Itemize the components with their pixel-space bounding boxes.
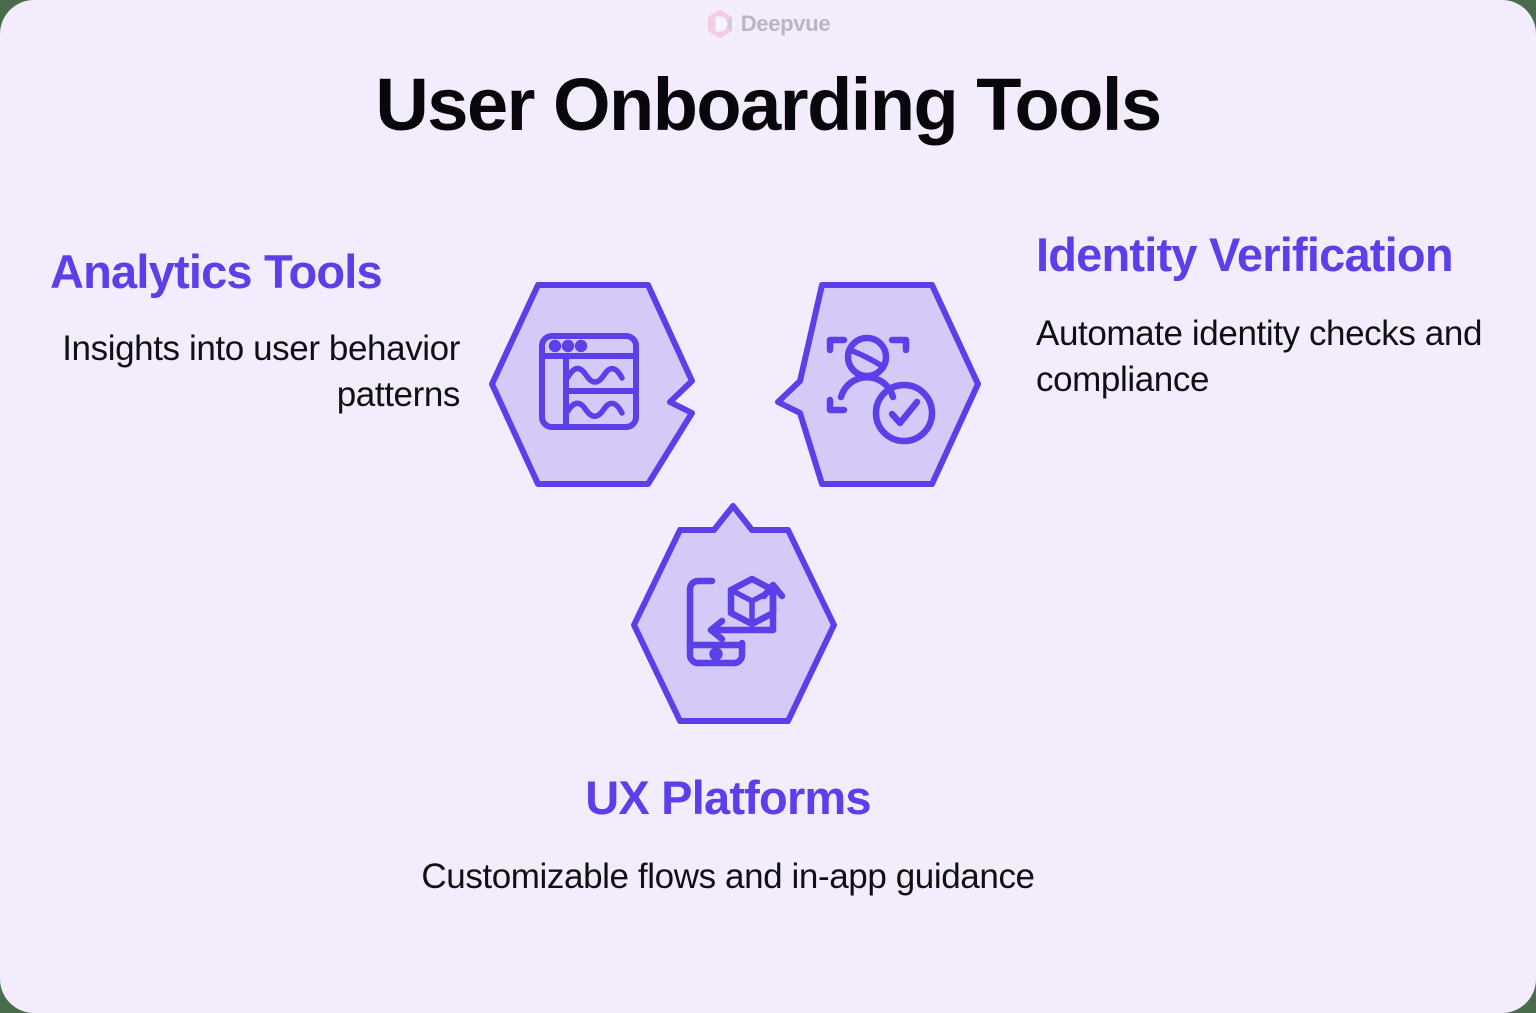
hexagon-badge-analytics: [478, 277, 708, 492]
deepvue-hexagon-logo-icon: [706, 9, 734, 39]
section-description-analytics: Insights into user behavior patterns: [20, 326, 460, 418]
section-ux: UX Platforms Customizable flows and in-a…: [418, 770, 1038, 900]
section-description-identity: Automate identity checks and compliance: [1036, 311, 1522, 403]
section-identity: Identity Verification Automate identity …: [1036, 227, 1522, 403]
section-analytics: Analytics Tools Insights into user behav…: [20, 244, 460, 418]
section-heading-analytics: Analytics Tools: [50, 244, 460, 300]
hexagon-badge-identity: [762, 277, 992, 492]
brand-logo: Deepvue: [0, 6, 1536, 42]
hexagon-badge-ux: [618, 518, 848, 733]
section-description-ux: Customizable flows and in-app guidance: [418, 854, 1038, 900]
brand-name: Deepvue: [741, 11, 831, 37]
infographic-card: Deepvue User Onboarding Tools: [0, 0, 1536, 1013]
page-title: User Onboarding Tools: [0, 62, 1536, 148]
section-heading-ux: UX Platforms: [418, 770, 1038, 826]
section-heading-identity: Identity Verification: [1036, 227, 1522, 283]
